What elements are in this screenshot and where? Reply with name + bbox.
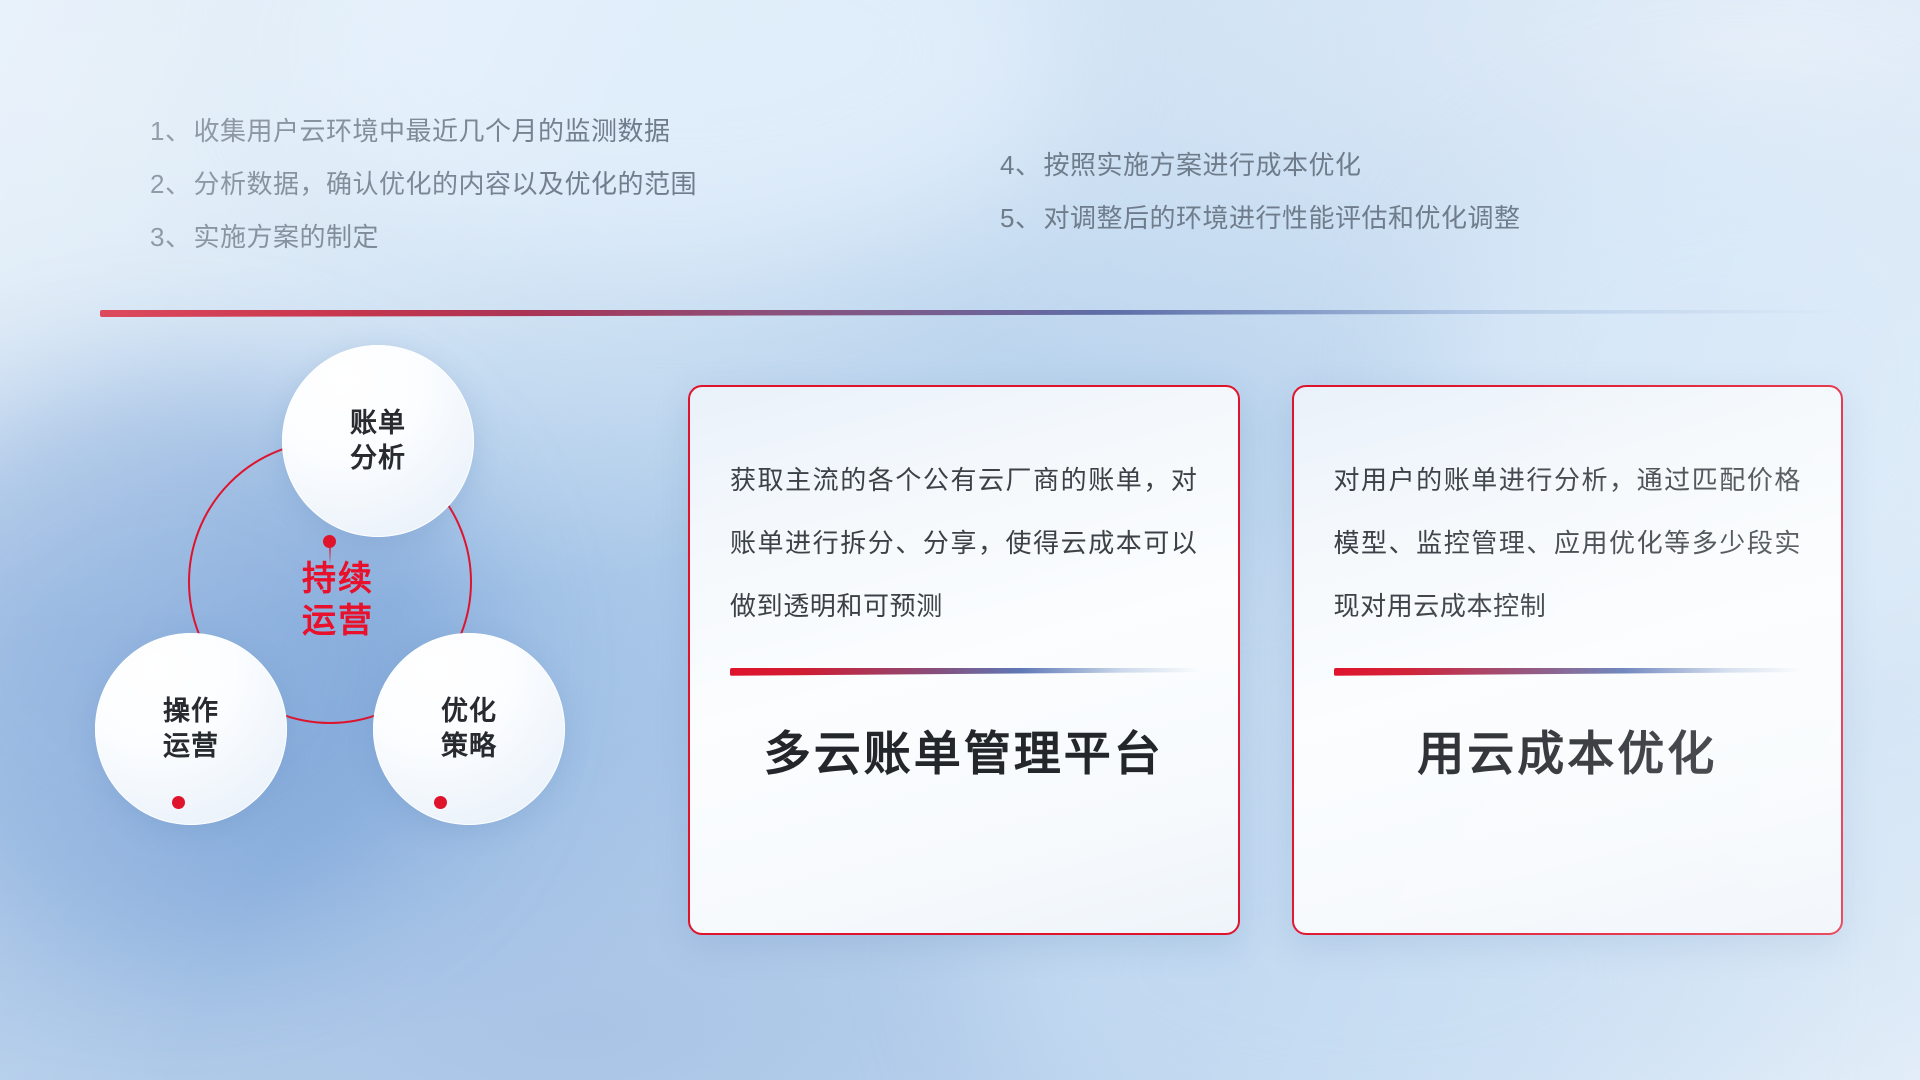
venn-center-label-wrap: 持续 运营: [188, 440, 472, 724]
list-item: 3、 实施方案的制定: [150, 224, 697, 250]
card-body-text: 对用户的账单进行分析，通过匹配价格模型、监控管理、应用优化等多少段实现对用云成本…: [1334, 449, 1802, 638]
card-title: 多云账单管理平台: [730, 728, 1198, 780]
cards-section: 获取主流的各个公有云厂商的账单，对账单进行拆分、分享，使得云成本可以做到透明和可…: [688, 385, 1843, 945]
list-item: 5、 对调整后的环境进行性能评估和优化调整: [1000, 205, 1520, 231]
venn-bubble-label-line2: 运营: [163, 729, 219, 764]
venn-center-label-line1: 持续: [302, 558, 374, 601]
steps-right-column: 4、 按照实施方案进行成本优化 5、 对调整后的环境进行性能评估和优化调整: [1000, 152, 1520, 258]
list-item-number: 2、: [150, 171, 191, 197]
card-divider-rule: [1334, 668, 1802, 676]
venn-node-dot: [434, 796, 447, 809]
slide-canvas: 1、 收集用户云环境中最近几个月的监测数据 2、 分析数据，确认优化的内容以及优…: [0, 0, 1920, 1080]
venn-center-label-line2: 运营: [302, 600, 374, 643]
list-item-number: 5、: [1000, 205, 1041, 231]
card-body-text: 获取主流的各个公有云厂商的账单，对账单进行拆分、分享，使得云成本可以做到透明和可…: [730, 449, 1198, 638]
list-item-label: 对调整后的环境进行性能评估和优化调整: [1043, 205, 1520, 231]
list-item-number: 3、: [150, 224, 191, 250]
venn-connector-stem: [329, 545, 331, 565]
list-item-label: 收集用户云环境中最近几个月的监测数据: [193, 118, 670, 144]
card-multicloud-billing-platform[interactable]: 获取主流的各个公有云厂商的账单，对账单进行拆分、分享，使得云成本可以做到透明和可…: [688, 385, 1240, 935]
section-divider-rule: [100, 310, 1850, 317]
venn-center-label: 持续 运营: [302, 558, 374, 643]
venn-node-dot: [172, 796, 185, 809]
venn-bubble-label-line2: 策略: [441, 729, 497, 764]
list-item-number: 1、: [150, 118, 191, 144]
steps-left-column: 1、 收集用户云环境中最近几个月的监测数据 2、 分析数据，确认优化的内容以及优…: [150, 118, 697, 277]
list-item: 4、 按照实施方案进行成本优化: [1000, 152, 1520, 178]
venn-bubble-label-line1: 账单: [350, 406, 406, 441]
card-title: 用云成本优化: [1334, 728, 1802, 780]
list-item-label: 按照实施方案进行成本优化: [1043, 152, 1361, 178]
list-item-number: 4、: [1000, 152, 1041, 178]
venn-node-dot: [323, 535, 336, 548]
card-divider-rule: [730, 668, 1198, 676]
list-item: 1、 收集用户云环境中最近几个月的监测数据: [150, 118, 697, 144]
list-item-label: 实施方案的制定: [193, 224, 379, 250]
venn-diagram: 持续 运营 账单 分析 操作 运营 优化 策略: [95, 345, 655, 945]
steps-section: 1、 收集用户云环境中最近几个月的监测数据 2、 分析数据，确认优化的内容以及优…: [0, 0, 1920, 270]
list-item-label: 分析数据，确认优化的内容以及优化的范围: [193, 171, 697, 197]
card-cloud-cost-optimization[interactable]: 对用户的账单进行分析，通过匹配价格模型、监控管理、应用优化等多少段实现对用云成本…: [1292, 385, 1844, 935]
list-item: 2、 分析数据，确认优化的内容以及优化的范围: [150, 171, 697, 197]
